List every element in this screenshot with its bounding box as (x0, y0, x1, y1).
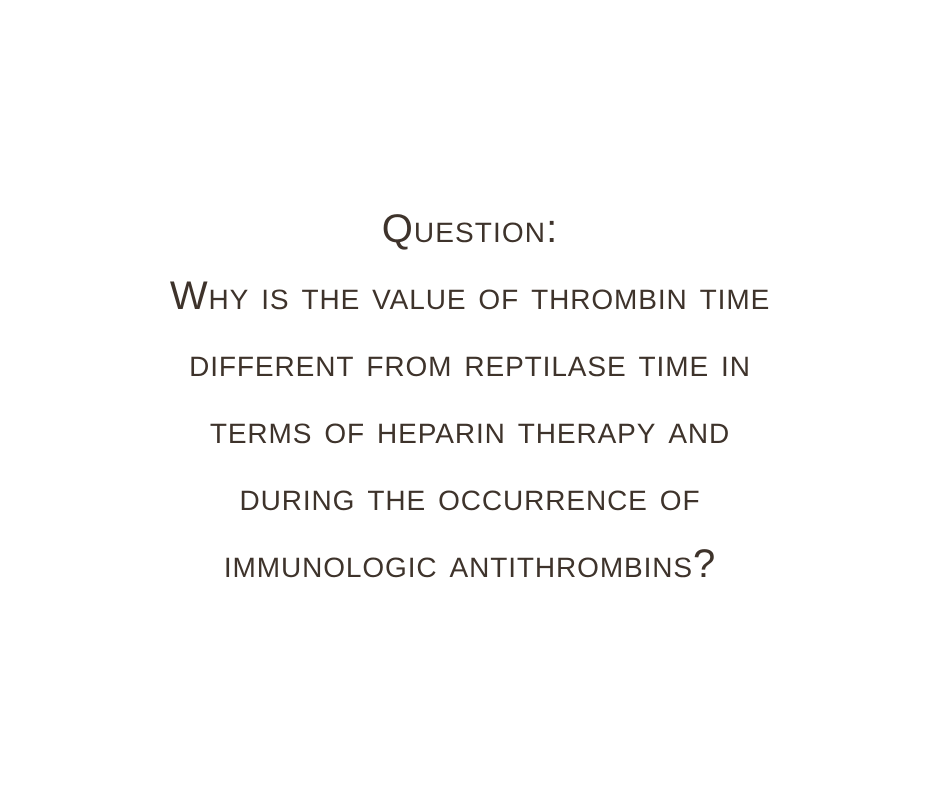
question-block: Question: Why is the value of thrombin t… (0, 196, 940, 598)
question-slide: Question: Why is the value of thrombin t… (0, 0, 940, 788)
question-text-line-1: Why is the value of thrombin time (0, 263, 940, 330)
question-text-line-5: immunologic antithrombins? (0, 531, 940, 598)
question-text-line-2: different from reptilase time in (0, 330, 940, 397)
question-text-line-4: during the occurrence of (0, 464, 940, 531)
question-text-line-3: terms of heparin therapy and (0, 397, 940, 464)
question-label: Question: (0, 196, 940, 263)
